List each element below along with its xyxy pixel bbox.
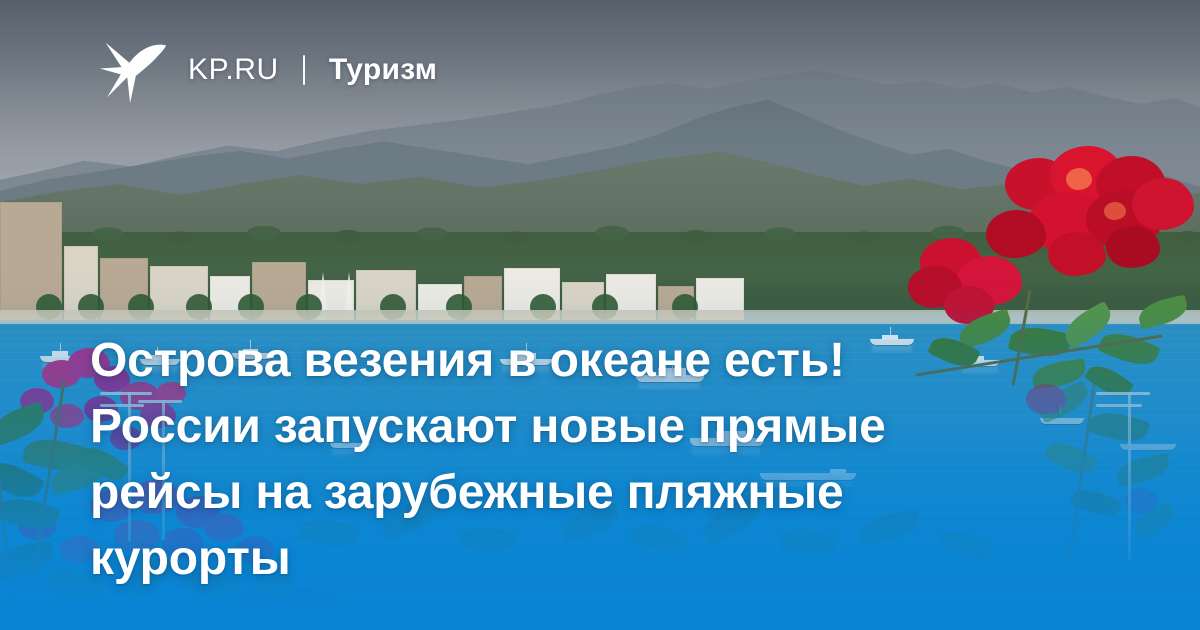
rubric-label[interactable]: Туризм	[329, 53, 437, 87]
page-title: Острова везения в океане есть! России за…	[90, 328, 1070, 592]
headline-line-3: рейсы на зарубежные пляжные	[90, 460, 1070, 526]
header: KP.RU Туризм	[96, 34, 437, 106]
brand-name[interactable]: KP.RU	[188, 55, 279, 85]
social-share-card: KP.RU Туризм Острова везения в океане ес…	[0, 0, 1200, 630]
headline-line-4: курорты	[90, 526, 1070, 592]
headline-line-1: Острова везения в океане есть!	[90, 328, 1070, 394]
kp-swallow-bird-icon[interactable]	[96, 34, 170, 106]
headline-line-2: России запускают новые прямые	[90, 394, 1070, 460]
header-divider	[303, 55, 305, 85]
